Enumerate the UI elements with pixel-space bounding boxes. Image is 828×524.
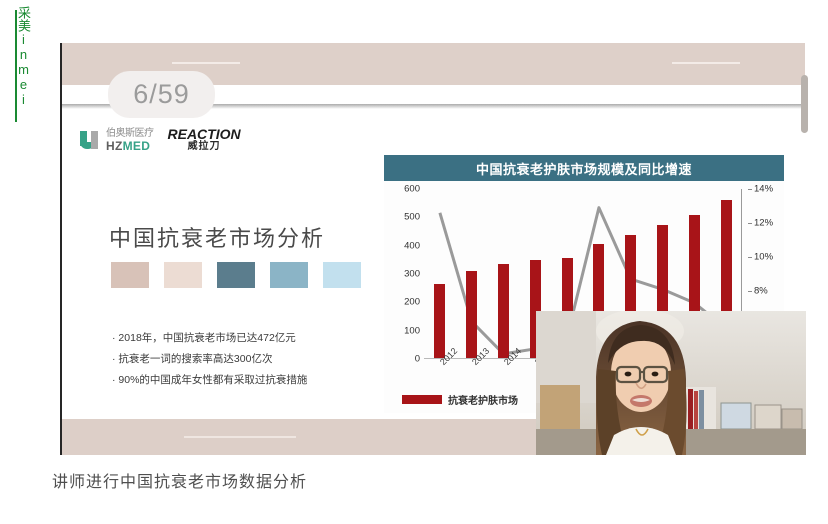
chart-bar <box>466 271 477 359</box>
hzmed-mark-icon <box>80 130 102 152</box>
hzmed-logo-med: MED <box>123 139 151 153</box>
chart-y-axis-left: 0100200300400500600 <box>386 181 420 381</box>
y-tick-left: 100 <box>404 325 420 336</box>
color-swatch-3 <box>217 262 255 288</box>
y-tick-mark <box>748 223 752 224</box>
chart-bar <box>434 284 445 359</box>
y-tick-left: 400 <box>404 240 420 251</box>
video-caption: 讲师进行中国抗衰老市场数据分析 <box>52 468 307 492</box>
watermark-stem <box>15 10 17 122</box>
slide-bullet-3: 90%的中国成年女性都有采取过抗衰措施 <box>112 370 307 391</box>
app-root: 采美inmei 6/59 伯奥斯医疗 HZMED <box>0 0 828 524</box>
y-tick-left: 200 <box>404 297 420 308</box>
reaction-logo-cn: 威拉刀 <box>188 142 221 153</box>
y-tick-mark <box>748 189 752 190</box>
chart-title: 中国抗衰老护肤市场规模及同比增速 <box>384 155 784 181</box>
legend-label: 抗衰老护肤市场 <box>448 392 518 407</box>
webcam-frame <box>536 311 806 455</box>
slide-title: 中国抗衰老市场分析 <box>109 221 325 253</box>
hzmed-logo: 伯奥斯医疗 HZMED <box>80 129 154 152</box>
slide-scrollbar-thumb[interactable] <box>801 75 808 133</box>
color-swatch-1 <box>111 262 149 288</box>
logo-row: 伯奥斯医疗 HZMED REACTION 威拉刀 <box>80 127 241 152</box>
watermark-text: 采美inmei <box>4 6 30 116</box>
y-tick-mark <box>748 257 752 258</box>
color-swatch-row <box>111 262 361 288</box>
reaction-logo-en: REACTION <box>168 127 241 142</box>
bottom-banner-accent-line <box>184 436 296 438</box>
slide-bullet-list: 2018年，中国抗衰老市场已达472亿元抗衰老一词的搜索率高达300亿次90%的… <box>112 328 307 391</box>
presenter-webcam-video[interactable] <box>536 311 806 455</box>
y-tick-left: 0 <box>415 354 420 365</box>
chart-legend: 抗衰老护肤市场 <box>402 392 518 407</box>
y-tick-right: 14% <box>754 184 773 195</box>
legend-color-swatch <box>402 395 442 404</box>
y-tick-right: 10% <box>754 252 773 263</box>
y-tick-right: 12% <box>754 218 773 229</box>
reaction-logo: REACTION 威拉刀 <box>168 127 241 152</box>
color-swatch-2 <box>164 262 202 288</box>
y-tick-right: 8% <box>754 286 768 297</box>
slide-scrollbar-track[interactable] <box>801 43 808 455</box>
banner-accent-line-right <box>672 62 740 64</box>
color-swatch-5 <box>323 262 361 288</box>
hzmed-logo-hz: HZ <box>106 139 123 153</box>
slide-bullet-1: 2018年，中国抗衰老市场已达472亿元 <box>112 328 307 349</box>
y-tick-mark <box>748 291 752 292</box>
chart-bar <box>498 264 509 359</box>
y-tick-left: 600 <box>404 184 420 195</box>
banner-accent-line-left <box>172 62 240 64</box>
slide-bullet-2: 抗衰老一词的搜索率高达300亿次 <box>112 349 307 370</box>
y-tick-left: 500 <box>404 212 420 223</box>
page-indicator-badge: 6/59 <box>108 71 215 118</box>
y-tick-left: 300 <box>404 269 420 280</box>
color-swatch-4 <box>270 262 308 288</box>
